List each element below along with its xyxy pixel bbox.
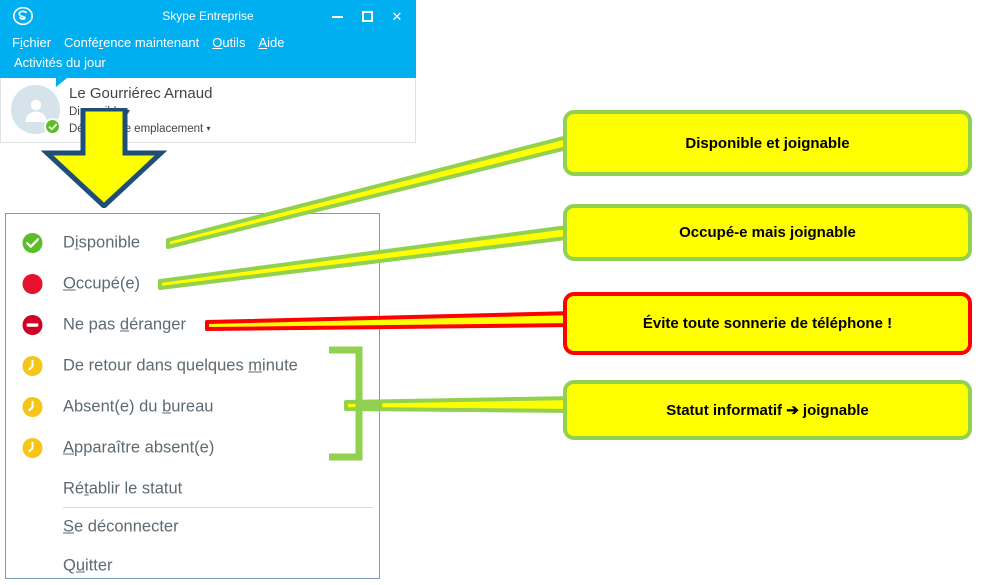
away-clock-icon [22, 396, 43, 417]
status-item-se-deconnecter[interactable]: Se déconnecter [6, 506, 379, 547]
menu-item-outils[interactable]: Outils [212, 35, 245, 50]
status-item-disponible[interactable]: Disponible [6, 222, 379, 263]
minimize-icon[interactable] [322, 4, 352, 30]
window-controls: ✕ [322, 0, 412, 33]
status-item-de-retour[interactable]: De retour dans quelques minute [6, 345, 379, 386]
screenshot-root: Skype Entreprise ✕ Fichier Conférence ma… [0, 0, 985, 585]
away-clock-icon [22, 355, 43, 376]
profile-name: Le Gourriérec Arnaud [69, 85, 212, 102]
status-item-occupe[interactable]: Occupé(e) [6, 263, 379, 304]
status-label: Quitter [63, 556, 113, 575]
menubar-row-primary: Fichier Conférence maintenant Outils Aid… [12, 35, 284, 50]
status-label: Disponible [63, 233, 140, 252]
skype-menubar: Fichier Conférence maintenant Outils Aid… [0, 33, 416, 78]
busy-icon [22, 273, 43, 294]
status-item-quitter[interactable]: Quitter [6, 545, 379, 585]
status-label: Se déconnecter [63, 517, 179, 536]
status-item-retablir-le-statut[interactable]: Rétablir le statut [6, 468, 379, 509]
do-not-disturb-icon [22, 314, 43, 335]
menu-item-activites-du-jour[interactable]: Activités du jour [14, 55, 106, 70]
status-item-apparaitre-absent[interactable]: Apparaître absent(e) [6, 427, 379, 468]
away-clock-icon [22, 437, 43, 458]
status-label: Occupé(e) [63, 274, 140, 293]
menu-item-fichier[interactable]: Fichier [12, 35, 51, 50]
callout-ne-pas-deranger: Évite toute sonnerie de téléphone ! [563, 292, 972, 355]
close-icon[interactable]: ✕ [382, 4, 412, 30]
callout-statut-informatif: Statut informatif ➔ joignable [563, 380, 972, 440]
status-label: Ne pas déranger [63, 315, 186, 334]
status-item-ne-pas-deranger[interactable]: Ne pas déranger [6, 304, 379, 345]
callout-disponible: Disponible et joignable [563, 110, 972, 176]
menu-item-conference-maintenant[interactable]: Conférence maintenant [64, 35, 199, 50]
chevron-down-icon: ▾ [206, 124, 210, 133]
yellow-down-arrow [28, 108, 180, 208]
callout-occupe: Occupé-e mais joignable [563, 204, 972, 261]
status-dropdown-menu: Disponible Occupé(e) Ne pas déranger De … [5, 213, 380, 579]
maximize-icon[interactable] [352, 4, 382, 30]
titlebar-notch [56, 78, 67, 87]
status-item-absent-bureau[interactable]: Absent(e) du bureau [6, 386, 379, 427]
menu-item-aide[interactable]: Aide [258, 35, 284, 50]
skype-titlebar: Skype Entreprise ✕ [0, 0, 416, 33]
status-label: Rétablir le statut [63, 479, 182, 498]
status-label: Absent(e) du bureau [63, 397, 213, 416]
status-label: Apparaître absent(e) [63, 438, 214, 457]
available-icon [22, 232, 43, 253]
status-label: De retour dans quelques minute [63, 356, 298, 375]
